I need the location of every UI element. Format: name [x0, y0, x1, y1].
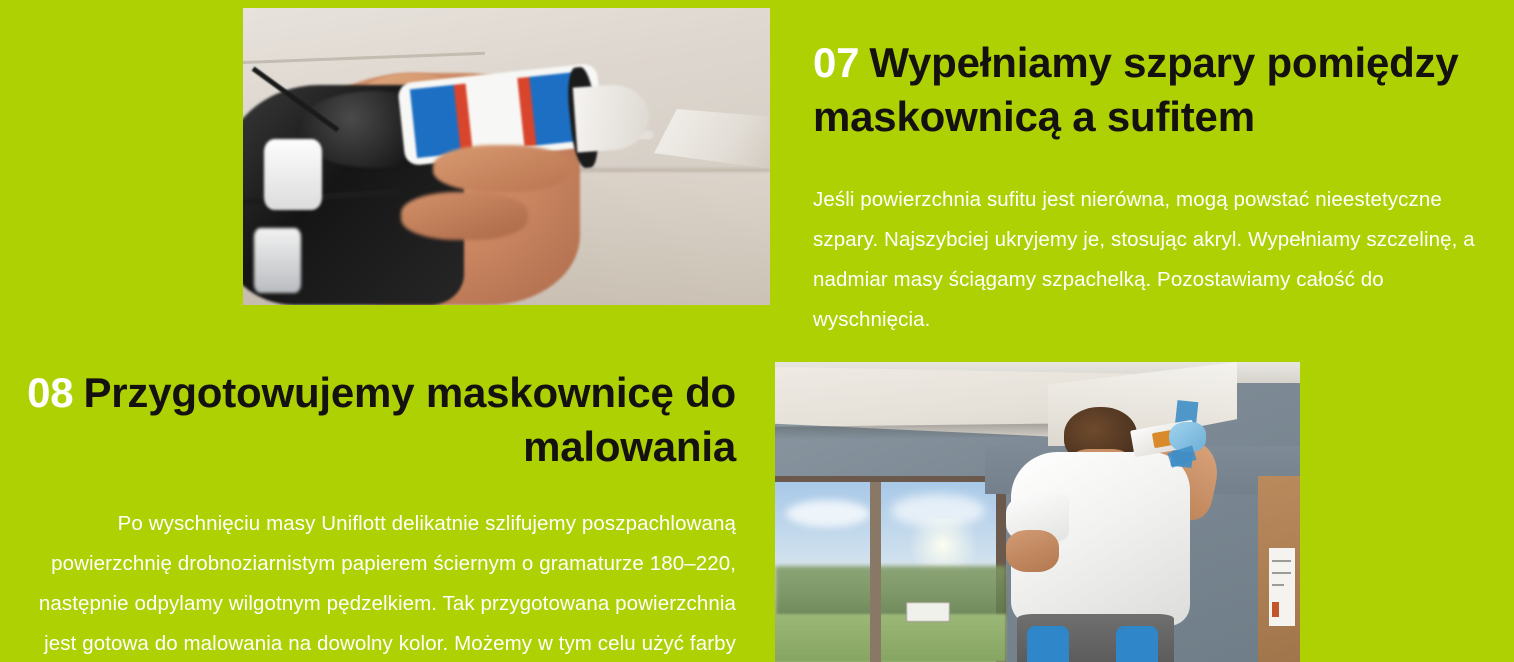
step-08-number: 08 [27, 369, 73, 416]
step-07-heading: 07Wypełniamy szpary pomiędzy maskownicą … [813, 36, 1505, 144]
sun-glare [901, 518, 985, 572]
gun-highlight-lower [254, 228, 301, 293]
grass-lawn [775, 614, 1006, 662]
step-07-text-block: 07Wypełniamy szpary pomiędzy maskownicą … [813, 36, 1505, 340]
instruction-page: 07Wypełniamy szpary pomiędzy maskownicą … [0, 0, 1514, 662]
window-mullion [870, 482, 882, 662]
step-08-heading-text: Przygotowujemy maskownicę do malowania [83, 369, 736, 470]
step-08-body: Po wyschnięciu masy Uniflott delikatnie … [20, 504, 736, 662]
box-label-line-2 [1272, 572, 1291, 574]
step-08-heading: 08Przygotowujemy maskownicę do malowania [20, 366, 736, 474]
cartridge-blue-band-left [410, 85, 461, 159]
step-07-photo [243, 8, 770, 305]
caulk-gun-scene [243, 8, 770, 305]
step-08-photo [775, 362, 1300, 662]
box-label-marker [1272, 602, 1279, 617]
finger-middle [433, 145, 570, 193]
box-label-line-3 [1272, 584, 1285, 586]
outdoor-sign [906, 602, 950, 622]
step-07-body: Jeśli powierzchnia sufitu jest nierówna,… [813, 180, 1505, 340]
step-08-text-block: 08Przygotowujemy maskownicę do malowania… [20, 366, 736, 662]
cloud-left [786, 500, 870, 527]
finger-lower [401, 192, 527, 240]
trouser-pocket-left [1027, 626, 1069, 662]
step-07-number: 07 [813, 39, 859, 86]
step-07-heading-text: Wypełniamy szpary pomiędzy maskownicą a … [813, 39, 1459, 140]
worker-ceiling-scene [775, 362, 1300, 662]
worker-left-arm [1006, 530, 1059, 572]
trouser-pocket-right [1116, 626, 1158, 662]
box-label-line-1 [1272, 560, 1291, 562]
tree-line [775, 566, 1006, 620]
gun-highlight [264, 139, 322, 210]
